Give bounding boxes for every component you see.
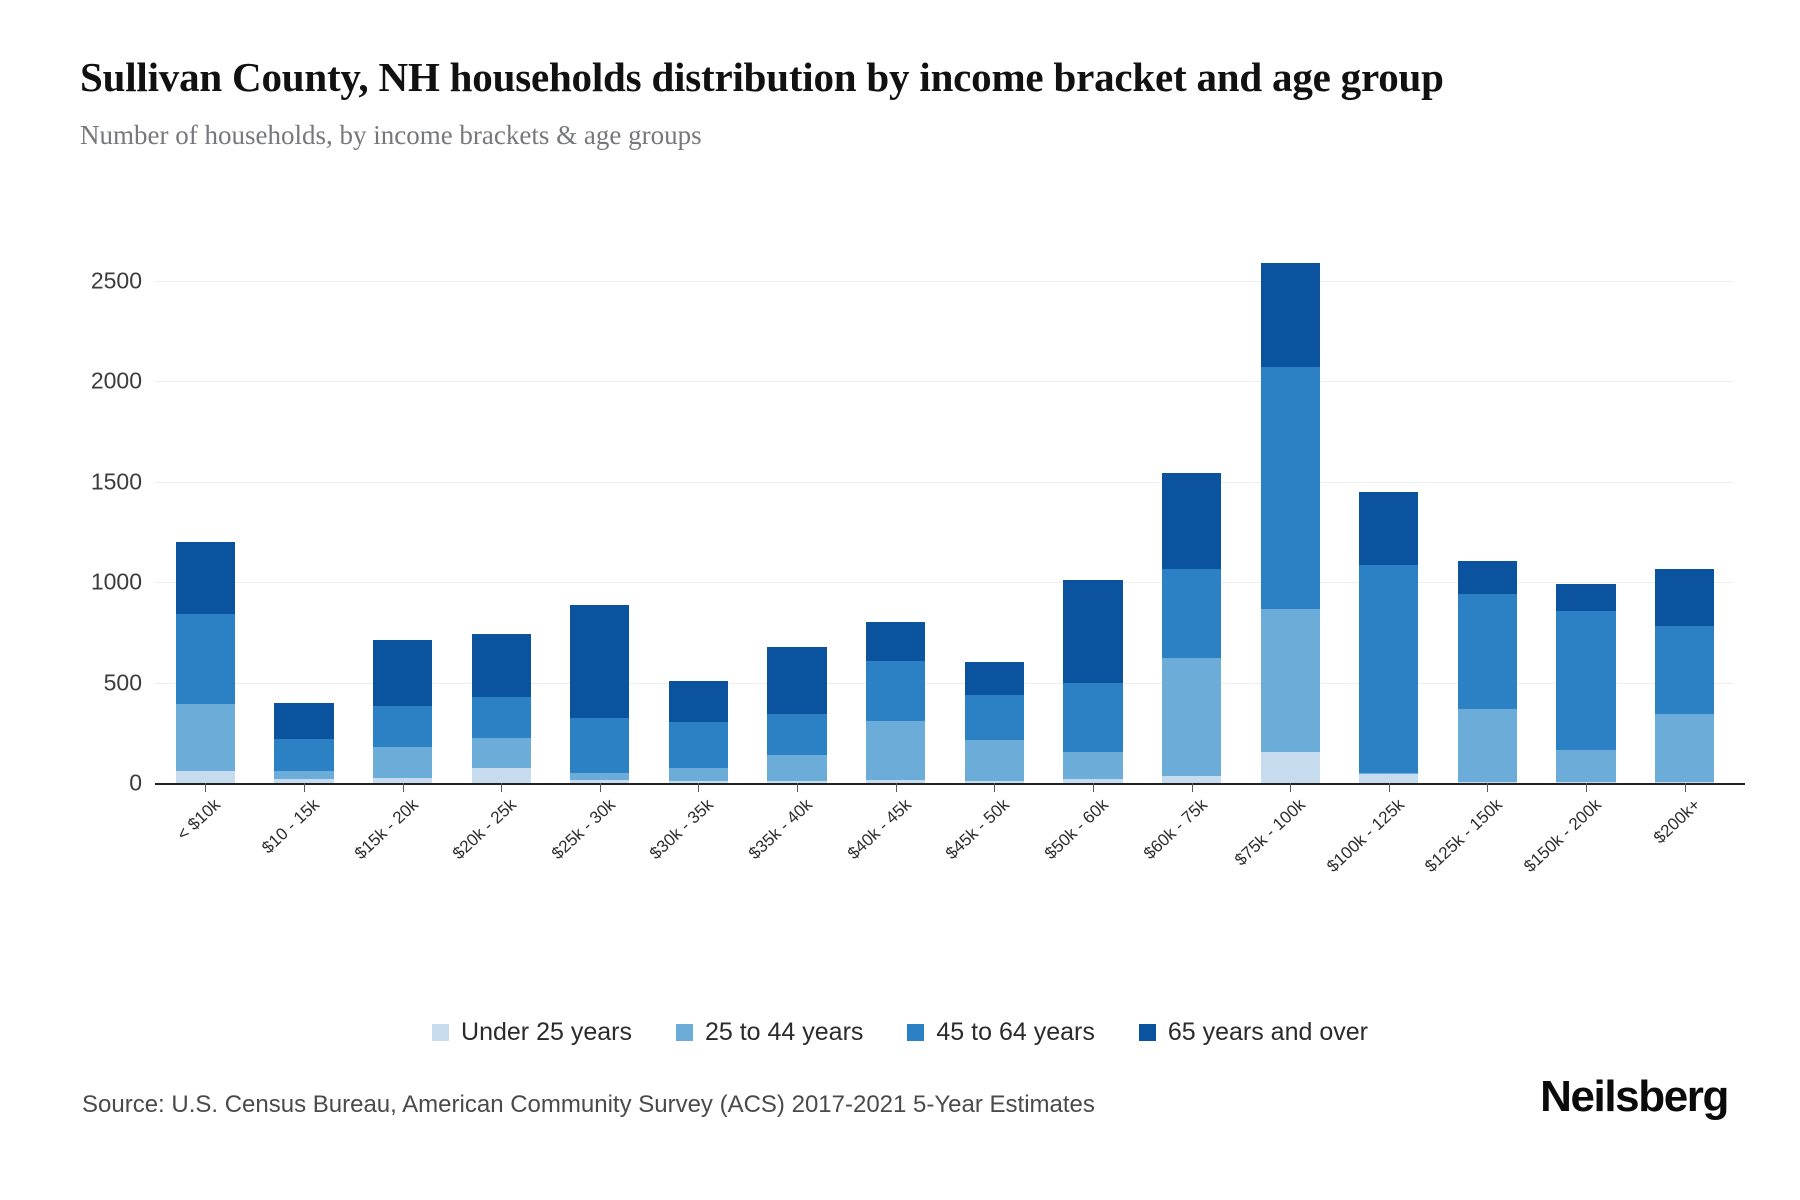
x-tick-mark [1487, 783, 1488, 792]
chart-legend: Under 25 years25 to 44 years45 to 64 yea… [0, 1018, 1800, 1047]
bar-stack[interactable] [570, 605, 629, 783]
x-tick-mark [994, 783, 995, 792]
x-tick-label: $150k - 200k [1520, 795, 1606, 877]
bar-segment[interactable] [274, 771, 333, 779]
bar-segment[interactable] [1261, 367, 1320, 609]
bar-segment[interactable] [176, 704, 235, 771]
bar-segment[interactable] [866, 721, 925, 779]
bar-segment[interactable] [1359, 774, 1418, 783]
legend-label: 45 to 64 years [936, 1018, 1094, 1047]
bar-segment[interactable] [669, 768, 728, 781]
bar-segment[interactable] [570, 718, 629, 773]
bar-stack[interactable] [1655, 569, 1714, 783]
x-tick-label: $200k+ [1650, 795, 1705, 848]
bar-segment[interactable] [866, 661, 925, 721]
bar-stack[interactable] [1556, 584, 1615, 783]
bar-segment[interactable] [866, 622, 925, 661]
x-tick-mark [501, 783, 502, 792]
bar-segment[interactable] [373, 706, 432, 747]
bar-segment[interactable] [570, 773, 629, 780]
bar-segment[interactable] [1063, 752, 1122, 779]
bar-segment[interactable] [669, 722, 728, 768]
bar-segment[interactable] [373, 747, 432, 778]
bar-stack[interactable] [669, 681, 728, 783]
bar-segment[interactable] [1458, 561, 1517, 594]
bar-stack[interactable] [1162, 473, 1221, 783]
bar-segment[interactable] [1261, 609, 1320, 753]
x-tick-label: $60k - 75k [1139, 795, 1211, 864]
chart-subtitle: Number of households, by income brackets… [80, 120, 1720, 151]
bar-segment[interactable] [1359, 565, 1418, 773]
bar-segment[interactable] [1063, 683, 1122, 752]
x-tick-label: $35k - 40k [745, 795, 817, 864]
legend-swatch-icon [907, 1024, 924, 1041]
bar-segment[interactable] [176, 771, 235, 783]
x-tick-mark [797, 783, 798, 792]
bar-segment[interactable] [1655, 626, 1714, 713]
x-axis-line [155, 783, 1745, 785]
bar-segment[interactable] [472, 697, 531, 738]
bar-segment[interactable] [1556, 584, 1615, 612]
bar-segment[interactable] [965, 740, 1024, 781]
legend-label: 25 to 44 years [705, 1018, 863, 1047]
bar-segment[interactable] [1458, 709, 1517, 782]
x-tick-mark [1192, 783, 1193, 792]
gridline-2000 [155, 381, 1733, 382]
bar-stack[interactable] [866, 622, 925, 783]
bar-segment[interactable] [1261, 752, 1320, 783]
bar-segment[interactable] [1162, 569, 1221, 659]
bar-stack[interactable] [472, 634, 531, 783]
source-note: Source: U.S. Census Bureau, American Com… [82, 1091, 1095, 1119]
x-tick-label: $125k - 150k [1422, 795, 1508, 877]
y-tick-label-0: 0 [78, 770, 142, 797]
bar-segment[interactable] [472, 738, 531, 768]
x-tick-label: $25k - 30k [548, 795, 620, 864]
y-tick-label-1000: 1000 [78, 569, 142, 596]
x-tick-label: $10 - 15k [258, 795, 323, 858]
legend-swatch-icon [432, 1024, 449, 1041]
bar-segment[interactable] [1162, 473, 1221, 569]
x-tick-mark [1586, 783, 1587, 792]
x-tick-mark [1389, 783, 1390, 792]
bar-stack[interactable] [965, 662, 1024, 783]
bar-stack[interactable] [373, 640, 432, 783]
bar-stack[interactable] [1458, 561, 1517, 783]
bar-segment[interactable] [472, 634, 531, 697]
legend-item[interactable]: Under 25 years [432, 1018, 632, 1047]
bar-stack[interactable] [274, 703, 333, 783]
bar-segment[interactable] [176, 542, 235, 613]
bar-segment[interactable] [767, 755, 826, 782]
bar-segment[interactable] [274, 739, 333, 771]
bar-stack[interactable] [1063, 580, 1122, 783]
bar-segment[interactable] [1261, 263, 1320, 367]
x-tick-mark [1290, 783, 1291, 792]
brand-logo: Neilsberg [1540, 1072, 1728, 1122]
x-tick-mark [1093, 783, 1094, 792]
x-tick-label: $20k - 25k [449, 795, 521, 864]
bar-segment[interactable] [274, 703, 333, 739]
bar-segment[interactable] [1556, 611, 1615, 750]
y-tick-label-2000: 2000 [78, 368, 142, 395]
chart-header: Sullivan County, NH households distribut… [80, 52, 1720, 151]
x-tick-label: < $10k [174, 795, 225, 845]
x-tick-mark [1685, 783, 1686, 792]
x-tick-label: $45k - 50k [942, 795, 1014, 864]
bar-segment[interactable] [669, 681, 728, 722]
legend-label: Under 25 years [461, 1018, 632, 1047]
x-tick-label: $40k - 45k [844, 795, 916, 864]
legend-swatch-icon [1139, 1024, 1156, 1041]
bar-segment[interactable] [1458, 594, 1517, 708]
y-tick-label-500: 500 [78, 669, 142, 696]
page-title: Sullivan County, NH households distribut… [80, 52, 1670, 102]
bar-segment[interactable] [1162, 776, 1221, 783]
bar-segment[interactable] [472, 768, 531, 783]
bar-stack[interactable] [1261, 263, 1320, 783]
x-tick-label: $75k - 100k [1231, 795, 1310, 870]
x-tick-mark [698, 783, 699, 792]
bar-segment[interactable] [176, 614, 235, 704]
x-tick-label: $50k - 60k [1041, 795, 1113, 864]
bar-stack[interactable] [176, 542, 235, 783]
bar-segment[interactable] [1359, 492, 1418, 565]
bar-segment[interactable] [1655, 714, 1714, 782]
bar-stack[interactable] [767, 647, 826, 783]
plot-area [155, 281, 1733, 783]
bar-stack[interactable] [1359, 492, 1418, 783]
bar-segment[interactable] [965, 662, 1024, 695]
x-tick-label: $30k - 35k [646, 795, 718, 864]
bar-segment[interactable] [1162, 658, 1221, 776]
bar-segment[interactable] [570, 605, 629, 719]
bar-segment[interactable] [767, 714, 826, 754]
bar-segment[interactable] [965, 695, 1024, 740]
x-tick-mark [896, 783, 897, 792]
bar-segment[interactable] [1655, 569, 1714, 627]
x-tick-mark [205, 783, 206, 792]
legend-item[interactable]: 45 to 64 years [907, 1018, 1094, 1047]
x-tick-mark [403, 783, 404, 792]
x-tick-mark [600, 783, 601, 792]
y-tick-label-2500: 2500 [78, 268, 142, 295]
bar-segment[interactable] [373, 640, 432, 706]
legend-item[interactable]: 25 to 44 years [676, 1018, 863, 1047]
bar-segment[interactable] [767, 647, 826, 714]
gridline-2500 [155, 281, 1733, 282]
bar-segment[interactable] [1063, 580, 1122, 682]
x-tick-label: $15k - 20k [350, 795, 422, 864]
gridline-1500 [155, 482, 1733, 483]
legend-item[interactable]: 65 years and over [1139, 1018, 1368, 1047]
x-tick-label: $100k - 125k [1323, 795, 1409, 877]
legend-swatch-icon [676, 1024, 693, 1041]
bar-segment[interactable] [1556, 750, 1615, 782]
legend-label: 65 years and over [1168, 1018, 1368, 1047]
x-tick-mark [304, 783, 305, 792]
y-tick-label-1500: 1500 [78, 468, 142, 495]
